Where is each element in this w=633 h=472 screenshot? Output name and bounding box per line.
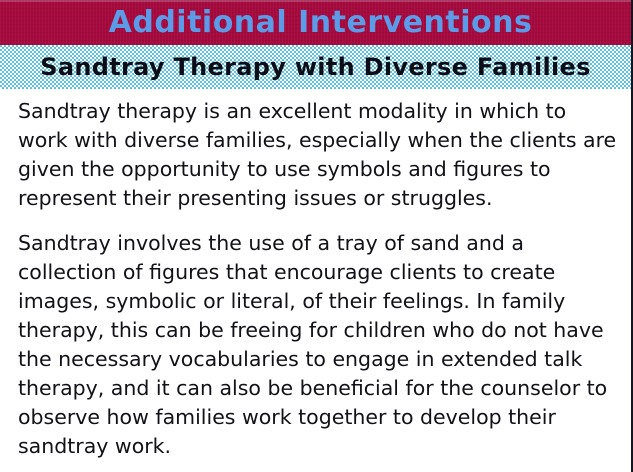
body-content: Sandtray therapy is an excellent modalit…: [18, 97, 618, 461]
page-title: Additional Interventions: [0, 0, 631, 45]
slide: Additional Interventions Sandtray Therap…: [0, 0, 633, 472]
body-paragraph: Sandtray therapy is an excellent modalit…: [18, 97, 618, 213]
page-subtitle: Sandtray Therapy with Diverse Families: [0, 45, 631, 89]
body-paragraph: Sandtray involves the use of a tray of s…: [18, 229, 618, 461]
